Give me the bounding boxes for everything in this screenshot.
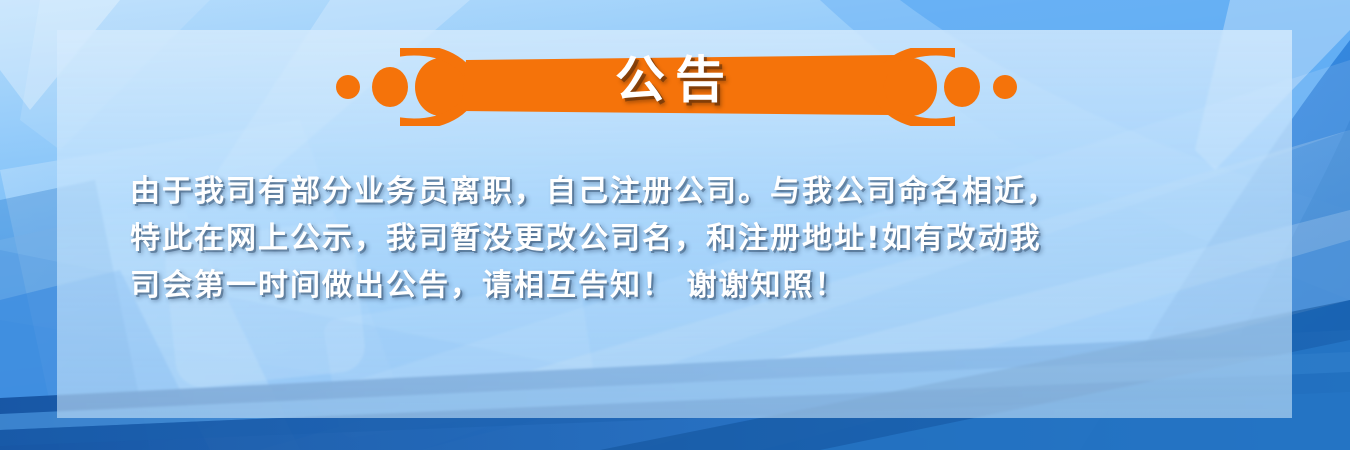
dot-small-left: [336, 75, 360, 99]
dot-large-right: [885, 58, 937, 116]
header-shapes: [0, 48, 1350, 126]
announcement-banner: 公告 由于我司有部分业务员离职，自己注册公司。与我公司命名相近， 特此在网上公示…: [0, 0, 1350, 450]
announcement-line-2: 特此在网上公示，我司暂没更改公司名，和注册地址!如有改动我: [130, 215, 1220, 262]
dot-medium-left: [372, 67, 408, 107]
announcement-body: 由于我司有部分业务员离职，自己注册公司。与我公司命名相近， 特此在网上公示，我司…: [130, 168, 1220, 309]
title-bar: [461, 55, 896, 115]
announcement-line-1: 由于我司有部分业务员离职，自己注册公司。与我公司命名相近，: [130, 168, 1220, 215]
dot-small-right: [993, 75, 1017, 99]
dot-medium-right: [944, 67, 980, 107]
announcement-line-3: 司会第一时间做出公告，请相互告知！ 谢谢知照！: [130, 262, 1220, 309]
header-decoration: [0, 48, 1350, 126]
